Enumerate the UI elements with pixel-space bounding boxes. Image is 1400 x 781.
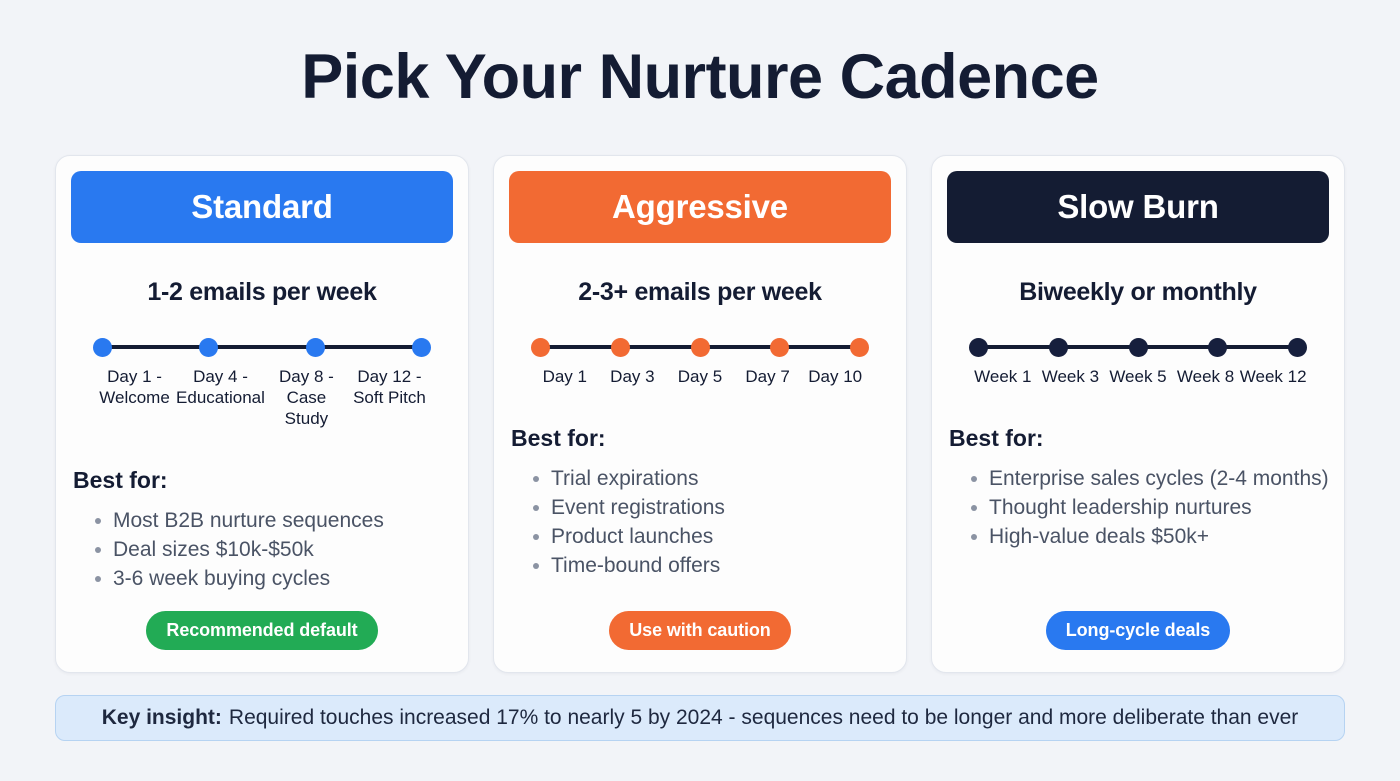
best-for-list: Trial expirations Event registrations Pr… bbox=[509, 464, 891, 580]
best-for-heading: Best for: bbox=[511, 425, 891, 452]
timeline-standard: Day 1 - Welcome Day 4 - Educational Day … bbox=[71, 337, 453, 429]
list-item: Time-bound offers bbox=[531, 551, 891, 580]
timeline-label: Day 7 bbox=[734, 366, 802, 387]
timeline-dot bbox=[611, 338, 630, 357]
list-item: High-value deals $50k+ bbox=[969, 522, 1329, 551]
timeline-dot bbox=[1049, 338, 1068, 357]
timeline-track bbox=[969, 337, 1307, 357]
timeline-label: Week 1 bbox=[969, 366, 1037, 387]
page-title: Pick Your Nurture Cadence bbox=[55, 46, 1345, 109]
pill-container: Use with caution bbox=[509, 611, 891, 672]
best-for-heading: Best for: bbox=[73, 467, 453, 494]
list-item: Enterprise sales cycles (2-4 months) bbox=[969, 464, 1329, 493]
card-subtitle-aggressive: 2-3+ emails per week bbox=[509, 278, 891, 307]
timeline-track bbox=[531, 337, 869, 357]
timeline-dot bbox=[1129, 338, 1148, 357]
card-subtitle-slow-burn: Biweekly or monthly bbox=[947, 278, 1329, 307]
card-header-aggressive: Aggressive bbox=[509, 171, 891, 243]
key-insight-label: Key insight: bbox=[102, 706, 222, 730]
list-item: Deal sizes $10k-$50k bbox=[93, 535, 453, 564]
list-item: 3-6 week buying cycles bbox=[93, 564, 453, 593]
status-badge-long-cycle[interactable]: Long-cycle deals bbox=[1046, 611, 1230, 650]
timeline-dot bbox=[93, 338, 112, 357]
best-for-list: Most B2B nurture sequences Deal sizes $1… bbox=[71, 506, 453, 593]
card-subtitle-standard: 1-2 emails per week bbox=[71, 278, 453, 307]
timeline-dot bbox=[850, 338, 869, 357]
card-title-slow-burn: Slow Burn bbox=[1057, 188, 1218, 226]
timeline-slow-burn: Week 1 Week 3 Week 5 Week 8 Week 12 bbox=[947, 337, 1329, 387]
timeline-label: Week 5 bbox=[1104, 366, 1172, 387]
timeline-labels: Day 1 - Welcome Day 4 - Educational Day … bbox=[93, 366, 431, 429]
timeline-label: Day 8 - Case Study bbox=[265, 366, 348, 429]
timeline-aggressive: Day 1 Day 3 Day 5 Day 7 Day 10 bbox=[509, 337, 891, 387]
card-title-aggressive: Aggressive bbox=[612, 188, 788, 226]
timeline-label: Day 5 bbox=[666, 366, 734, 387]
pill-container: Recommended default bbox=[71, 611, 453, 672]
key-insight-text: Required touches increased 17% to nearly… bbox=[229, 706, 1298, 730]
status-badge-recommended[interactable]: Recommended default bbox=[146, 611, 377, 650]
list-item: Most B2B nurture sequences bbox=[93, 506, 453, 535]
timeline-dot bbox=[1288, 338, 1307, 357]
timeline-dot bbox=[969, 338, 988, 357]
timeline-track bbox=[93, 337, 431, 357]
timeline-label: Day 1 bbox=[531, 366, 599, 387]
timeline-label: Week 12 bbox=[1239, 366, 1307, 387]
timeline-label: Day 12 - Soft Pitch bbox=[348, 366, 431, 429]
list-item: Trial expirations bbox=[531, 464, 891, 493]
timeline-dot bbox=[531, 338, 550, 357]
timeline-label: Week 3 bbox=[1037, 366, 1105, 387]
pill-container: Long-cycle deals bbox=[947, 611, 1329, 672]
timeline-label: Day 4 - Educational bbox=[176, 366, 265, 429]
cadence-card-aggressive[interactable]: Aggressive 2-3+ emails per week Day 1 Da… bbox=[493, 155, 907, 673]
timeline-label: Day 1 - Welcome bbox=[93, 366, 176, 429]
timeline-dot bbox=[691, 338, 710, 357]
status-badge-caution[interactable]: Use with caution bbox=[609, 611, 790, 650]
timeline-labels: Day 1 Day 3 Day 5 Day 7 Day 10 bbox=[531, 366, 869, 387]
card-header-slow-burn: Slow Burn bbox=[947, 171, 1329, 243]
timeline-label: Week 8 bbox=[1172, 366, 1240, 387]
best-for-list: Enterprise sales cycles (2-4 months) Tho… bbox=[947, 464, 1329, 551]
cadence-card-slow-burn[interactable]: Slow Burn Biweekly or monthly Week 1 Wee… bbox=[931, 155, 1345, 673]
cadence-card-standard[interactable]: Standard 1-2 emails per week Day 1 - Wel… bbox=[55, 155, 469, 673]
list-item: Thought leadership nurtures bbox=[969, 493, 1329, 522]
timeline-dot bbox=[412, 338, 431, 357]
list-item: Event registrations bbox=[531, 493, 891, 522]
key-insight-banner: Key insight: Required touches increased … bbox=[55, 695, 1345, 741]
cadence-card-row: Standard 1-2 emails per week Day 1 - Wel… bbox=[55, 155, 1345, 673]
card-header-standard: Standard bbox=[71, 171, 453, 243]
card-title-standard: Standard bbox=[191, 188, 332, 226]
timeline-dot bbox=[770, 338, 789, 357]
timeline-labels: Week 1 Week 3 Week 5 Week 8 Week 12 bbox=[969, 366, 1307, 387]
timeline-dot bbox=[199, 338, 218, 357]
infographic-page: Pick Your Nurture Cadence Standard 1-2 e… bbox=[0, 0, 1400, 781]
timeline-label: Day 3 bbox=[599, 366, 667, 387]
list-item: Product launches bbox=[531, 522, 891, 551]
timeline-dot bbox=[306, 338, 325, 357]
timeline-label: Day 10 bbox=[801, 366, 869, 387]
timeline-dot bbox=[1208, 338, 1227, 357]
best-for-heading: Best for: bbox=[949, 425, 1329, 452]
timeline-line bbox=[99, 345, 425, 349]
